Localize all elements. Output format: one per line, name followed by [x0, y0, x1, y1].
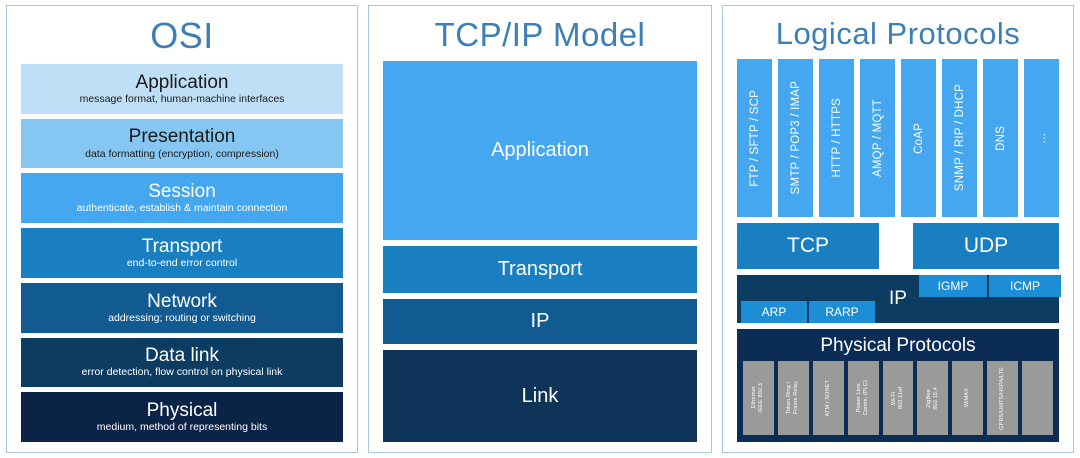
physical-protocol-box: Wi-Fi 802.11af	[883, 361, 914, 435]
physical-protocol-box: ATM / SONET	[813, 361, 844, 435]
physical-protocol-label: Token Ring / Frame Relay	[786, 381, 800, 414]
osi-layer: Transportend-to-end error control	[21, 228, 343, 278]
tcpip-layer-name: Transport	[498, 258, 583, 281]
osi-layer: Applicationmessage format, human-machine…	[21, 64, 343, 114]
osi-layer-name: Network	[147, 292, 217, 312]
tcpip-layer-name: Link	[522, 385, 559, 408]
physical-protocol-label: ATM / SONET	[825, 380, 832, 416]
panel-logical-protocols: Logical Protocols FTP / SFTP / SCPSMTP /…	[722, 5, 1074, 453]
application-protocol-column: SNMP / RIP / DHCP	[942, 59, 977, 217]
application-protocol-label: ...	[1036, 133, 1048, 143]
osi-layer: Networkaddressing; routing or switching	[21, 283, 343, 333]
application-protocol-label: HTTP / HTTPS	[831, 98, 843, 178]
physical-protocols-title: Physical Protocols	[820, 334, 975, 361]
osi-layer-desc: error detection, flow control on physica…	[82, 367, 283, 378]
application-protocol-label: SMTP / POP3 / IMAP	[790, 81, 802, 194]
application-protocol-column: ...	[1024, 59, 1059, 217]
osi-layer-name: Application	[136, 73, 229, 93]
osi-layer: Physicalmedium, method of representing b…	[21, 392, 343, 442]
physical-protocol-label: Ethernet IEEE 802.3	[751, 383, 765, 412]
tcpip-layer: IP	[383, 299, 697, 344]
tcpip-layer: Link	[383, 350, 697, 442]
physical-protocol-label: GPRS/UMTS/HSPA/LTE	[999, 367, 1006, 430]
physical-protocol-box: Power Line Comm. (PLC)	[848, 361, 879, 435]
panel-tcpip: TCP/IP Model ApplicationTransportIPLink	[368, 5, 712, 453]
tcpip-layer: Application	[383, 61, 697, 240]
application-protocol-row: FTP / SFTP / SCPSMTP / POP3 / IMAPHTTP /…	[737, 59, 1059, 217]
application-protocol-label: SNMP / RIP / DHCP	[954, 84, 966, 191]
osi-layer: Presentationdata formatting (encryption,…	[21, 119, 343, 169]
physical-protocol-box: Ethernet IEEE 802.3	[743, 361, 774, 435]
application-protocol-column: AMQP / MQTT	[860, 59, 895, 217]
osi-layer-desc: message format, human-machine interfaces	[80, 94, 285, 105]
application-protocol-column: SMTP / POP3 / IMAP	[778, 59, 813, 217]
panel-osi: OSI Applicationmessage format, human-mac…	[6, 5, 358, 453]
tcpip-layer-name: Application	[491, 139, 589, 162]
osi-layer: Sessionauthenticate, establish & maintai…	[21, 173, 343, 223]
physical-protocol-label: ZigBee 802.15.4	[926, 387, 940, 410]
tcp-box: TCP	[737, 223, 879, 269]
panel-tcpip-title: TCP/IP Model	[383, 12, 697, 61]
physical-protocol-label: Wi-Fi 802.11af	[891, 387, 905, 409]
osi-layer-desc: medium, method of representing bits	[97, 422, 267, 433]
physical-protocol-box: ZigBee 802.15.4	[917, 361, 948, 435]
osi-layer-name: Data link	[145, 346, 219, 366]
panel-osi-title: OSI	[21, 12, 343, 64]
application-protocol-label: CoAP	[913, 123, 925, 154]
physical-protocol-label: WiMAX	[964, 388, 971, 407]
osi-layer-name: Presentation	[129, 127, 236, 147]
application-protocol-column: HTTP / HTTPS	[819, 59, 854, 217]
application-protocol-column: DNS	[983, 59, 1018, 217]
transport-gap	[887, 223, 905, 269]
physical-protocol-row: Physical Protocols Ethernet IEEE 802.3To…	[737, 329, 1059, 442]
osi-layer-desc: data formatting (encryption, compression…	[85, 149, 279, 160]
tcpip-layer: Transport	[383, 246, 697, 294]
osi-layer: Data linkerror detection, flow control o…	[21, 338, 343, 388]
physical-protocol-boxes: Ethernet IEEE 802.3Token Ring / Frame Re…	[743, 361, 1053, 435]
application-protocol-column: CoAP	[901, 59, 936, 217]
osi-layer-desc: authenticate, establish & maintain conne…	[77, 203, 288, 214]
physical-protocol-box	[1022, 361, 1053, 435]
physical-protocol-box: GPRS/UMTS/HSPA/LTE	[987, 361, 1018, 435]
udp-box: UDP	[913, 223, 1059, 269]
physical-protocol-label: Power Line Comm. (PLC)	[856, 380, 870, 415]
physical-protocol-box: WiMAX	[952, 361, 983, 435]
physical-protocol-box: Token Ring / Frame Relay	[778, 361, 809, 435]
logical-body: FTP / SFTP / SCPSMTP / POP3 / IMAPHTTP /…	[737, 59, 1059, 442]
transport-protocol-row: TCP UDP	[737, 223, 1059, 269]
diagram-board: OSI Applicationmessage format, human-mac…	[0, 0, 1080, 458]
panel-logical-title: Logical Protocols	[737, 12, 1059, 59]
osi-layer-name: Session	[148, 182, 216, 202]
tcpip-layer-name: IP	[531, 310, 550, 333]
ip-label: IP	[737, 275, 1059, 323]
application-protocol-label: DNS	[995, 126, 1007, 151]
osi-layer-stack: Applicationmessage format, human-machine…	[21, 64, 343, 442]
udp-label: UDP	[964, 234, 1008, 258]
osi-layer-name: Physical	[147, 401, 218, 421]
application-protocol-column: FTP / SFTP / SCP	[737, 59, 772, 217]
osi-layer-desc: addressing; routing or switching	[108, 313, 256, 324]
osi-layer-name: Transport	[142, 237, 223, 257]
tcpip-layer-stack: ApplicationTransportIPLink	[383, 61, 697, 442]
tcp-label: TCP	[787, 234, 829, 258]
application-protocol-label: FTP / SFTP / SCP	[749, 90, 761, 187]
application-protocol-label: AMQP / MQTT	[872, 99, 884, 177]
osi-layer-desc: end-to-end error control	[127, 258, 237, 269]
network-protocol-row: IP IGMP ICMP ARP RARP	[737, 275, 1059, 323]
